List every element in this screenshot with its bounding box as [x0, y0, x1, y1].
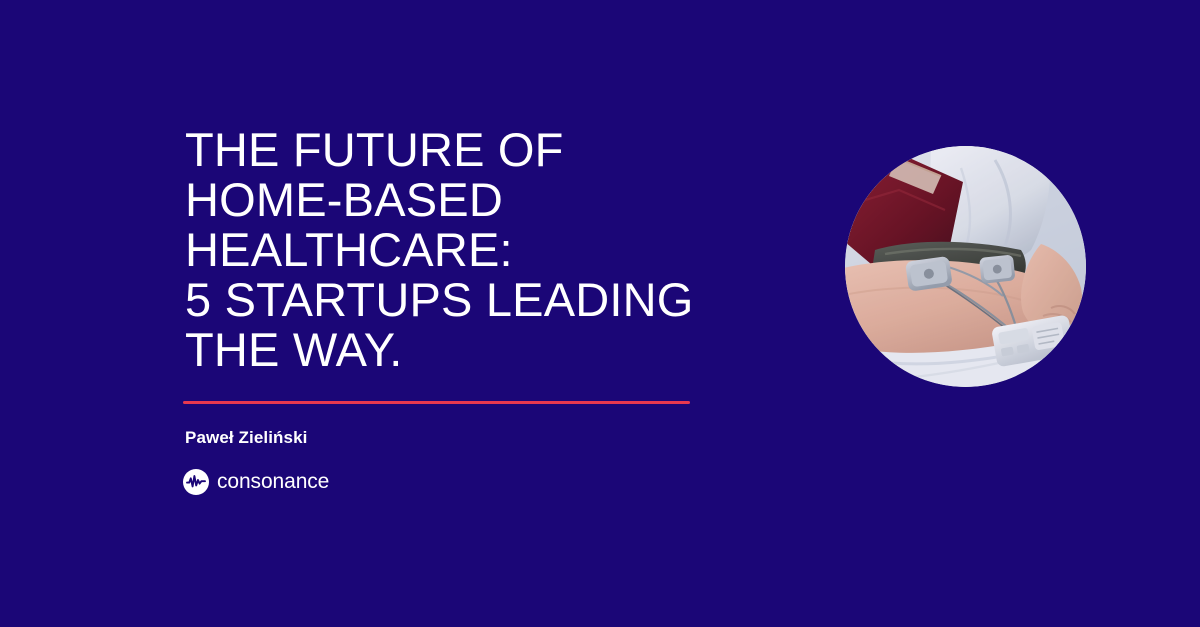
social-share-card: THE FUTURE OF HOME-BASED HEALTHCARE: 5 S… — [0, 0, 1200, 627]
waveform-icon — [183, 469, 209, 495]
brand-name-label: consonance — [217, 469, 329, 495]
brand-logo[interactable]: consonance — [183, 469, 329, 495]
author-byline: Paweł Zieliński — [185, 427, 307, 449]
page-title: THE FUTURE OF HOME-BASED HEALTHCARE: 5 S… — [185, 125, 705, 375]
article-thumbnail-photo — [845, 146, 1086, 387]
article-header: THE FUTURE OF HOME-BASED HEALTHCARE: 5 S… — [185, 125, 705, 375]
accent-divider — [183, 401, 690, 404]
